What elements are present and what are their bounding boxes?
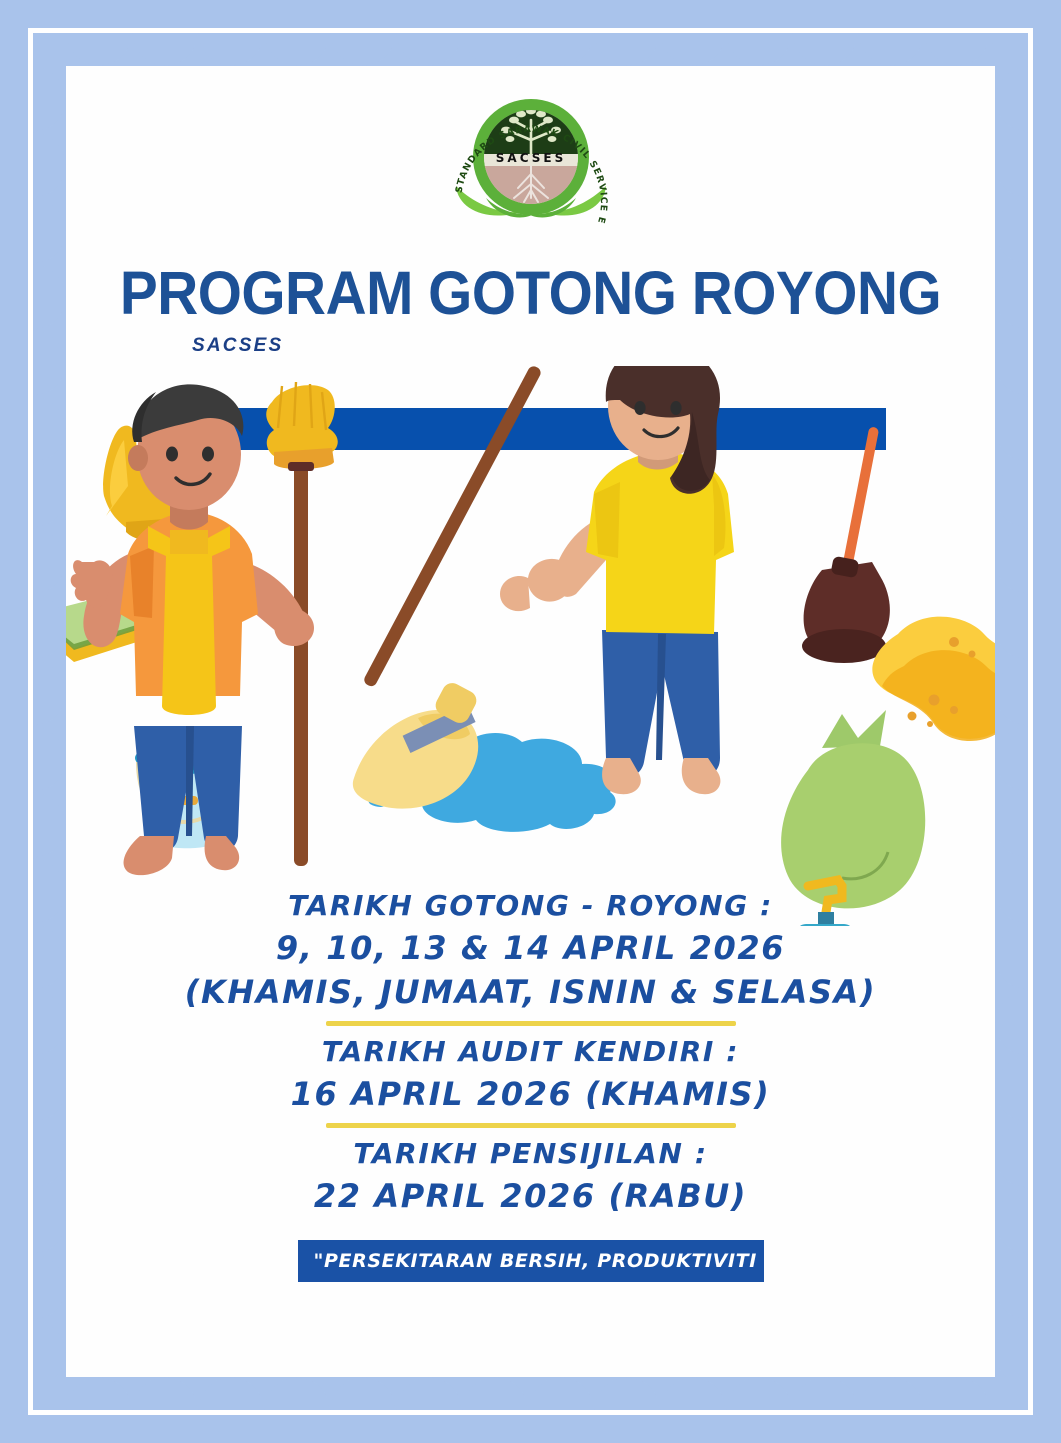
pensijilan-value: 22 APRIL 2026 (RABU) <box>66 1174 995 1218</box>
scallop-edge-left <box>33 66 66 1377</box>
audit-value: 16 APRIL 2026 (KHAMIS) <box>66 1072 995 1116</box>
dates-block: TARIKH GOTONG - ROYONG : 9, 10, 13 & 14 … <box>66 886 995 1218</box>
scallop-edge-bottom <box>66 1377 995 1410</box>
divider-2 <box>326 1123 736 1128</box>
illustration-area <box>66 366 995 926</box>
scallop-edge-right <box>995 66 1028 1377</box>
tagline-text: "PERSEKITARAN BERSIH, PRODUKTIVITI MENIN… <box>298 1250 764 1272</box>
sponge-yellow-icon <box>872 617 995 741</box>
scallop-edge-top <box>66 33 995 66</box>
page-subtitle: SACSES <box>192 335 283 357</box>
poster-root: SACSES STANDARD SARAWAK CIVIL SERVICE EN… <box>0 0 1061 1443</box>
poster-content: SACSES STANDARD SARAWAK CIVIL SERVICE EN… <box>66 66 995 1377</box>
plunger-icon <box>802 426 890 663</box>
audit-label: TARIKH AUDIT KENDIRI : <box>66 1032 995 1072</box>
logo-center-text: SACSES <box>495 151 565 165</box>
gotong-royong-value: 9, 10, 13 & 14 APRIL 2026 <box>66 926 995 970</box>
gotong-royong-days: (KHAMIS, JUMAAT, ISNIN & SELASA) <box>66 970 995 1014</box>
page-title: PROGRAM GOTONG ROYONG <box>99 258 963 328</box>
tagline-banner: "PERSEKITARAN BERSIH, PRODUKTIVITI MENIN… <box>298 1240 764 1282</box>
divider-1 <box>326 1021 736 1026</box>
gotong-royong-label: TARIKH GOTONG - ROYONG : <box>66 886 995 926</box>
pensijilan-label: TARIKH PENSIJILAN : <box>66 1134 995 1174</box>
tagline-area: "PERSEKITARAN BERSIH, PRODUKTIVITI MENIN… <box>66 1240 995 1282</box>
sacses-logo: SACSES STANDARD SARAWAK CIVIL SERVICE EN… <box>416 94 646 224</box>
girl-with-mop <box>500 366 734 794</box>
garbage-bag-icon <box>781 710 925 908</box>
